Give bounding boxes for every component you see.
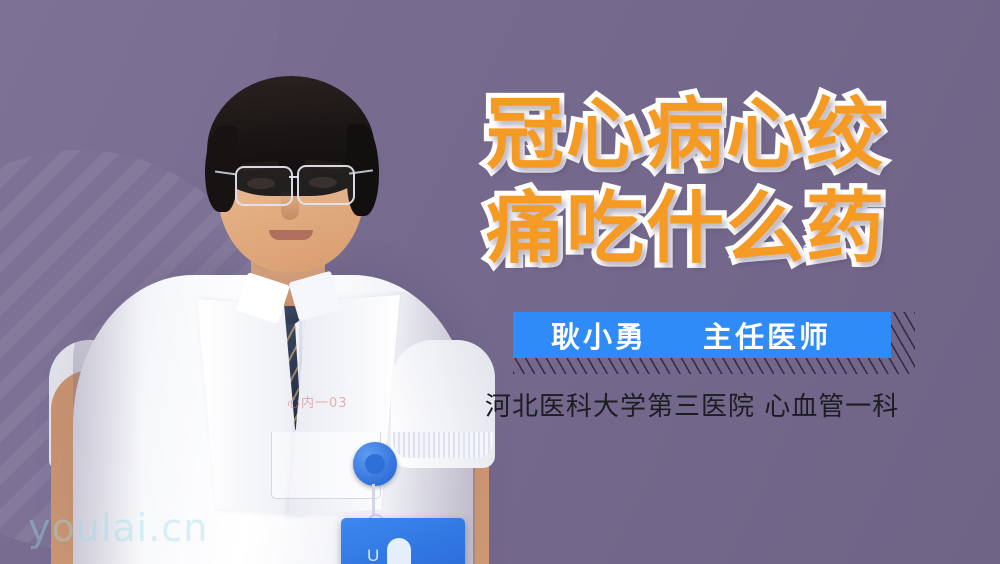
id-badge-letter: U xyxy=(367,546,379,564)
poster-canvas: 心内一03 U 冠心病心绞 痛吃什么药 耿小勇 主任医师 河北医科大学第三医院 … xyxy=(0,0,1000,564)
eyeglasses-lens-left xyxy=(235,166,293,206)
id-badge-slot xyxy=(387,538,411,564)
doctor-name-banner: 耿小勇 主任医师 xyxy=(513,312,891,358)
page-title-line-2: 痛吃什么药 xyxy=(486,186,946,272)
doctor-job-title: 主任医师 xyxy=(703,314,831,356)
doctor-name: 耿小勇 xyxy=(551,314,647,356)
page-title-line-1: 冠心病心绞 xyxy=(486,92,946,178)
badge-reel-cord xyxy=(372,484,375,518)
eyeglasses-lens-right xyxy=(297,165,355,205)
coat-cuff-right xyxy=(393,432,493,458)
coat-shadow-left xyxy=(73,290,143,564)
eyeglasses-bridge xyxy=(289,176,299,178)
badge-reel-center xyxy=(365,454,385,474)
doctor-portrait: 心内一03 U xyxy=(55,40,495,564)
hair-side-left xyxy=(205,126,237,212)
coat-embroidery-text: 心内一03 xyxy=(287,392,397,411)
mouth xyxy=(269,230,313,240)
hospital-department-text: 河北医科大学第三医院 心血管一科 xyxy=(485,386,899,423)
